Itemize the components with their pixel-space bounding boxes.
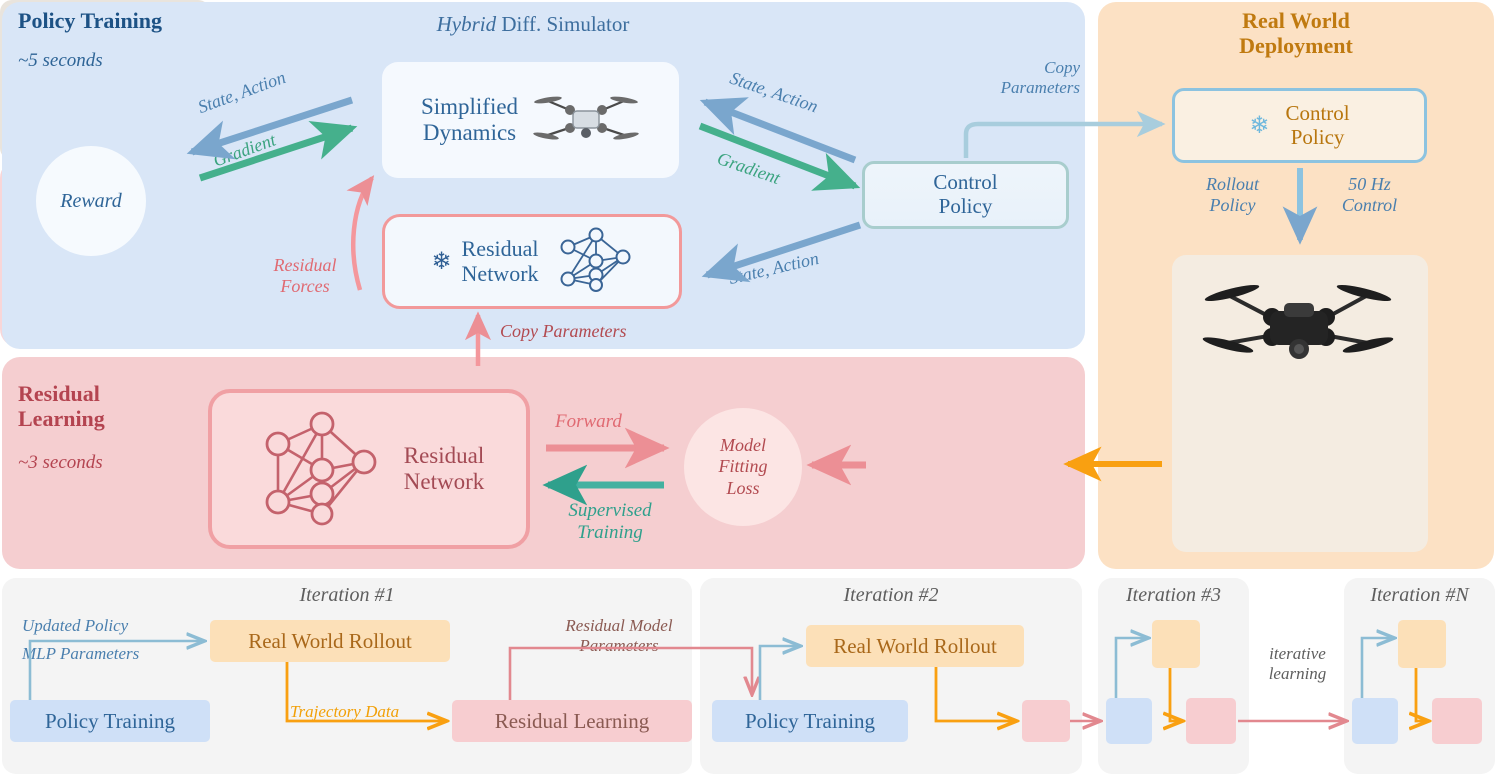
iter3-policy-training-node[interactable] — [1106, 698, 1152, 744]
reward-node: Reward — [36, 146, 146, 256]
residual-network-training-box: ResidualNetwork — [208, 389, 530, 549]
residual-network-label: ResidualNetwork — [462, 237, 539, 286]
panel-iteration-2 — [700, 578, 1082, 774]
drone-icon — [532, 87, 640, 154]
label-updated-policy: Updated Policy — [22, 616, 128, 636]
model-fitting-loss-label: ModelFittingLoss — [719, 435, 768, 499]
residual-learning-duration: ~3 seconds — [18, 452, 103, 474]
residual-network-frozen-box: ❄ ResidualNetwork — [382, 214, 682, 309]
iter1-residual-learning-node[interactable]: Residual Learning — [452, 700, 692, 742]
iter3-real-world-rollout-node[interactable] — [1152, 620, 1200, 668]
label-supervised-training: SupervisedTraining — [545, 500, 675, 544]
label-copy-parameters-residual: Copy Parameters — [500, 321, 626, 342]
deployment-drone-panel — [1172, 255, 1428, 552]
iteration-3-title: Iteration #3 — [1098, 584, 1249, 607]
panel-residual-learning — [2, 357, 1085, 569]
model-fitting-loss-node: ModelFittingLoss — [684, 408, 802, 526]
diagram-root: Policy Training ~5 seconds ResidualLearn… — [0, 0, 1495, 777]
itern-residual-learning-node[interactable] — [1432, 698, 1482, 744]
hybrid-simulator-title: Hybrid Diff. Simulator — [368, 12, 698, 37]
simplified-dynamics-box: SimplifiedDynamics — [382, 62, 679, 178]
itern-real-world-rollout-node[interactable] — [1398, 620, 1446, 668]
label-mlp-parameters: MLP Parameters — [22, 644, 139, 664]
iter2-policy-training-node[interactable]: Policy Training — [712, 700, 908, 742]
simplified-dynamics-label: SimplifiedDynamics — [421, 94, 518, 146]
residual-learning-title: ResidualLearning — [18, 381, 158, 431]
policy-training-duration: ~5 seconds — [18, 50, 103, 72]
control-policy-box: ControlPolicy — [862, 161, 1069, 229]
deployed-control-policy-box: ❄ ControlPolicy — [1172, 88, 1427, 163]
label-trajectory-data: Trajectory Data — [290, 702, 399, 722]
policy-training-title: Policy Training — [18, 8, 162, 33]
iteration-n-title: Iteration #N — [1344, 584, 1495, 607]
reward-label: Reward — [60, 190, 121, 213]
snowflake-icon-deploy: ❄ — [1249, 114, 1269, 138]
iter2-real-world-rollout-node[interactable]: Real World Rollout — [806, 625, 1024, 667]
label-residual-model-parameters: Residual ModelParameters — [534, 616, 704, 657]
iter3-residual-learning-node[interactable] — [1186, 698, 1236, 744]
label-forward: Forward — [555, 411, 622, 433]
iteration-1-title: Iteration #1 — [2, 584, 692, 607]
real-drone-icon — [1192, 273, 1407, 383]
label-rollout-policy: RolloutPolicy — [1185, 174, 1280, 216]
iteration-2-title: Iteration #2 — [700, 584, 1082, 607]
label-50hz-control: 50 HzControl — [1322, 174, 1417, 216]
label-residual-forces: ResidualForces — [260, 255, 350, 296]
itern-policy-training-node[interactable] — [1352, 698, 1398, 744]
label-iterative-learning: iterativelearning — [1250, 644, 1345, 685]
real-world-deployment-title: Real WorldDeployment — [1098, 8, 1494, 58]
iter2-residual-learning-node[interactable] — [1022, 700, 1070, 742]
snowflake-icon: ❄ — [431, 250, 451, 274]
deployed-control-policy-label: ControlPolicy — [1285, 102, 1349, 149]
panel-iteration-1 — [2, 578, 692, 774]
iter1-real-world-rollout-node[interactable]: Real World Rollout — [210, 620, 450, 662]
panel-iteration-n — [1344, 578, 1495, 774]
iter1-policy-training-node[interactable]: Policy Training — [10, 700, 210, 742]
neural-network-icon — [555, 223, 633, 300]
neural-network-icon-large — [254, 404, 382, 535]
residual-network-training-label: ResidualNetwork — [404, 443, 485, 495]
label-copy-parameters-deploy: CopyParameters — [1000, 58, 1080, 97]
control-policy-label: ControlPolicy — [933, 171, 997, 218]
panel-iteration-3 — [1098, 578, 1249, 774]
